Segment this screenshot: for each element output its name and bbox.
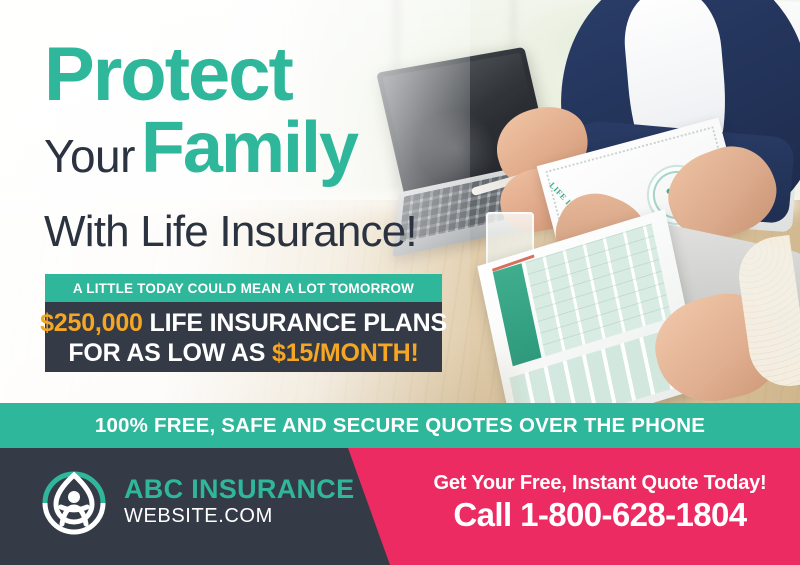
offer-monthly-price: $15/MONTH! — [272, 339, 419, 367]
headline-line-protect: Protect — [44, 38, 464, 112]
offer-banner: A LITTLE TODAY COULD MEAN A LOT TOMORROW — [45, 274, 442, 302]
headline-word-family: Family — [141, 108, 357, 188]
offer-price-box: $250,000 LIFE INSURANCE PLANS FOR AS LOW… — [45, 302, 442, 372]
cta-headline: Get Your Free, Instant Quote Today! — [412, 470, 788, 496]
cta-phone-number[interactable]: Call 1-800-628-1804 — [412, 496, 788, 534]
trust-strip: 100% FREE, SAFE AND SECURE QUOTES OVER T… — [0, 403, 800, 448]
brand-lockup: ABC INSURANCE WEBSITE.COM — [124, 474, 354, 528]
brand-website: WEBSITE.COM — [124, 504, 354, 528]
headline-line-your-family: YourFamily — [44, 112, 464, 204]
call-to-action[interactable]: Get Your Free, Instant Quote Today! Call… — [412, 470, 788, 534]
person-in-shield-circle-logo-icon — [37, 466, 111, 540]
headline-word-your: Your — [44, 130, 135, 182]
offer-line-1: $250,000 LIFE INSURANCE PLANS — [40, 308, 447, 338]
insurance-postcard: LIFE INSURANCE POLICY ❤ Protect YourFami… — [0, 0, 800, 565]
brand-name: ABC INSURANCE — [124, 474, 354, 504]
offer-coverage-amount: $250,000 — [40, 309, 143, 337]
offer-coverage-label: LIFE INSURANCE PLANS — [150, 309, 447, 337]
offer-banner-text: A LITTLE TODAY COULD MEAN A LOT TOMORROW — [73, 281, 414, 296]
trust-strip-text: 100% FREE, SAFE AND SECURE QUOTES OVER T… — [95, 414, 705, 438]
headline-line-with-life-insurance: With Life Insurance! — [44, 204, 464, 260]
offer-line-2: FOR AS LOW AS $15/MONTH! — [68, 338, 418, 368]
offer-price-prefix: FOR AS LOW AS — [68, 339, 265, 367]
headline-block: Protect YourFamily With Life Insurance! — [44, 38, 464, 260]
